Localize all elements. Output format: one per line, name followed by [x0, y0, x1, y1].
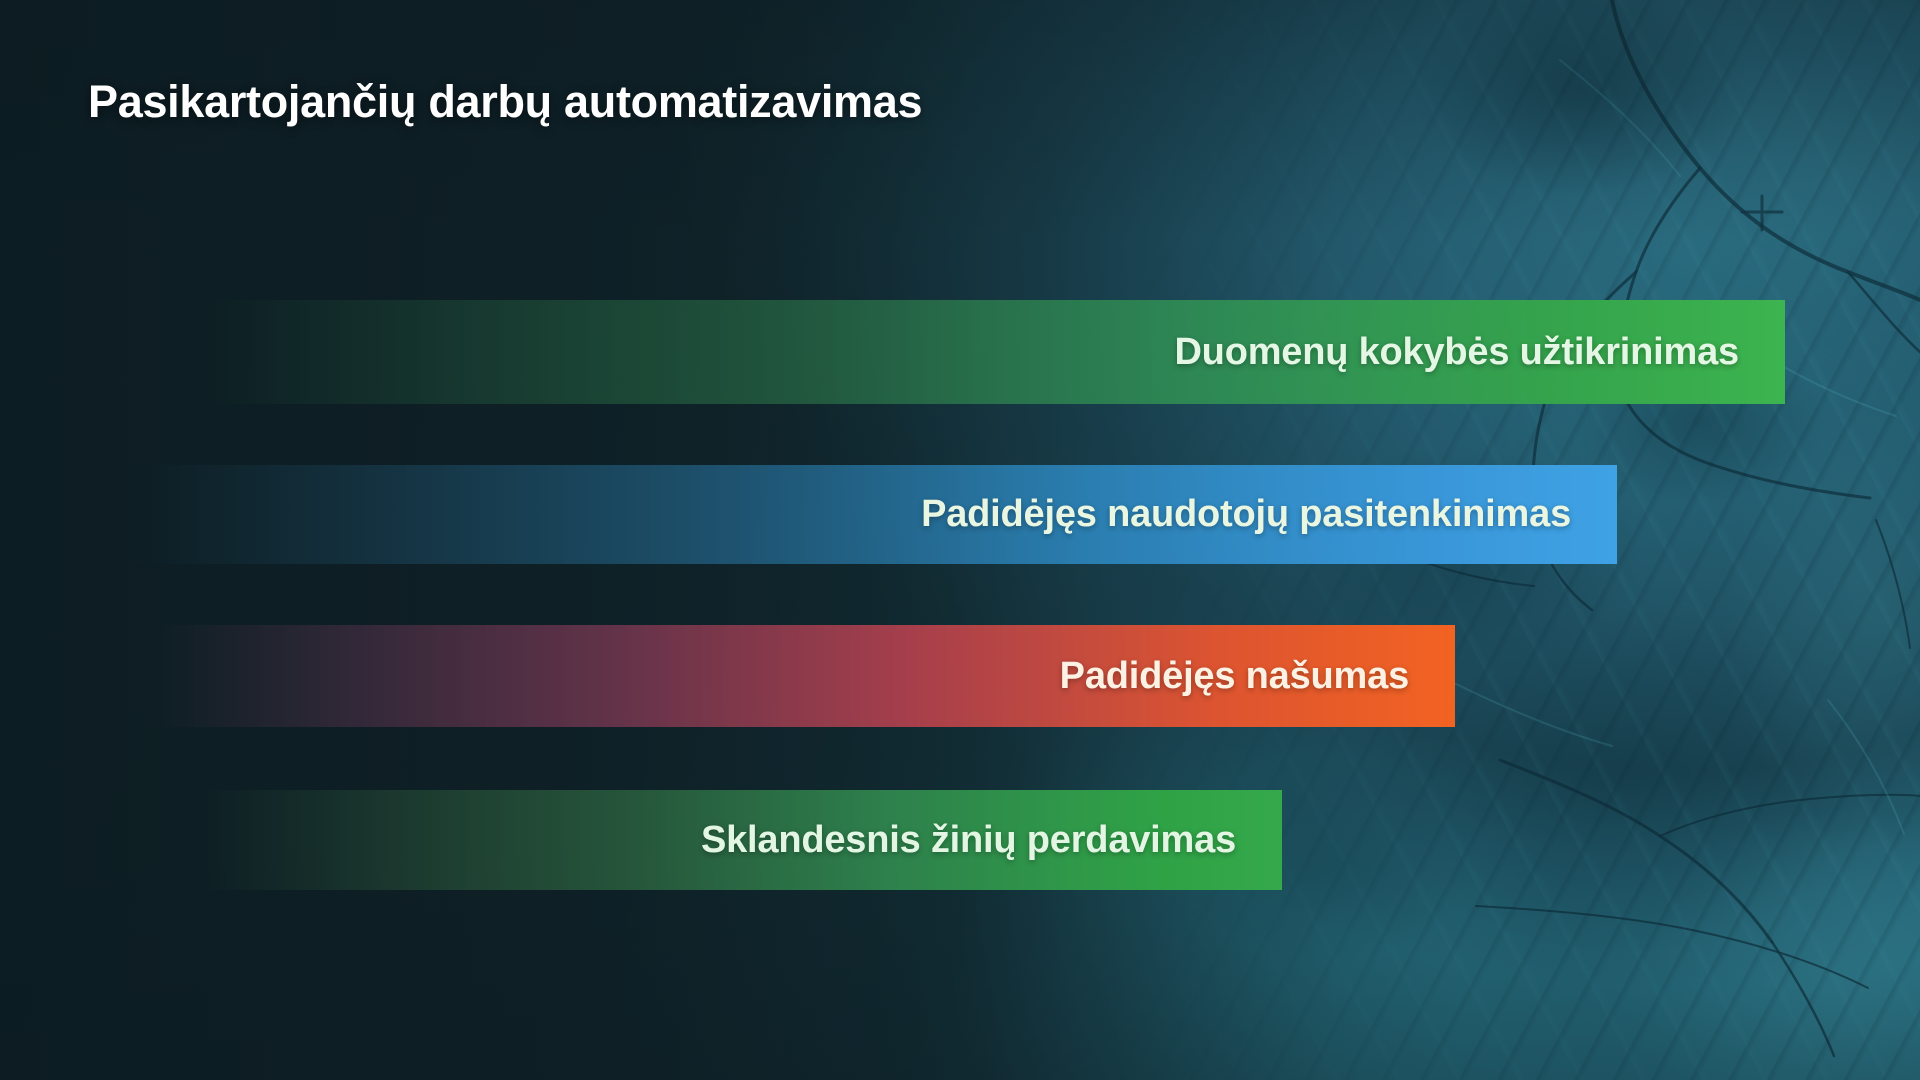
benefit-bar-2[interactable]: Padidėjęs naudotojų pasitenkinimas [133, 465, 1617, 564]
benefit-bar-4[interactable]: Sklandesnis žinių perdavimas [195, 790, 1282, 890]
benefit-bar-list: Duomenų kokybės užtikrinimas Padidėjęs n… [0, 0, 1920, 1080]
benefit-bar-3[interactable]: Padidėjęs našumas [150, 625, 1455, 727]
slide-root: Pasikartojančių darbų automatizavimas Du… [0, 0, 1920, 1080]
benefit-bar-2-label: Padidėjęs naudotojų pasitenkinimas [921, 493, 1617, 536]
benefit-bar-3-label: Padidėjęs našumas [1060, 655, 1455, 698]
benefit-bar-1-label: Duomenų kokybės užtikrinimas [1174, 331, 1785, 374]
benefit-bar-1[interactable]: Duomenų kokybės užtikrinimas [195, 300, 1785, 404]
benefit-bar-4-label: Sklandesnis žinių perdavimas [701, 819, 1282, 862]
